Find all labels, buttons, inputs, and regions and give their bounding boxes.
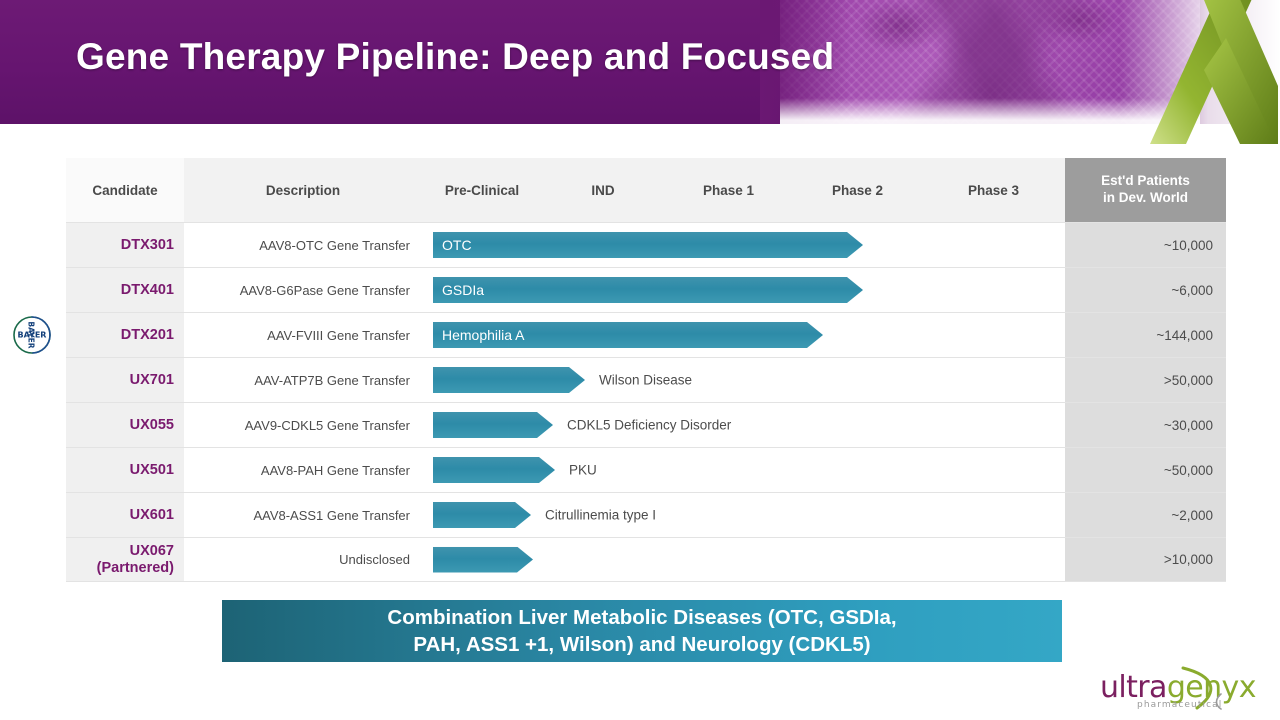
- ultragenyx-logo: ultragenyx pharmaceutical: [1075, 672, 1245, 718]
- cell-phase-track: GSDIa: [422, 268, 1065, 312]
- combination-banner: Combination Liver Metabolic Diseases (OT…: [222, 600, 1062, 662]
- cell-est-patients: ~50,000: [1065, 448, 1226, 492]
- cell-candidate: UX067(Partnered): [66, 538, 184, 581]
- cell-candidate: UX501: [66, 448, 184, 492]
- indication-label: Citrullinemia type I: [545, 508, 656, 523]
- candidate-code: UX701: [130, 372, 174, 388]
- phase-progress-bar: GSDIa: [433, 277, 863, 303]
- est-patients-line1: Est'd Patients: [1101, 173, 1190, 190]
- candidate-note: (Partnered): [97, 560, 174, 576]
- cell-est-patients: ~30,000: [1065, 403, 1226, 447]
- phase-progress-bar: OTC: [433, 232, 863, 258]
- cell-description: Undisclosed: [184, 538, 422, 581]
- cell-description: AAV9-CDKL5 Gene Transfer: [184, 403, 422, 447]
- table-row: DTX201BAYERBAYERAAV-FVIII Gene TransferH…: [66, 312, 1226, 357]
- green-x-logo-icon: [1128, 0, 1278, 144]
- svg-text:BAYER: BAYER: [27, 321, 36, 348]
- page-title: Gene Therapy Pipeline: Deep and Focused: [76, 36, 834, 78]
- cell-description: AAV8-ASS1 Gene Transfer: [184, 493, 422, 537]
- cell-est-patients: >10,000: [1065, 538, 1226, 581]
- phase-progress-bar: [433, 502, 531, 528]
- table-row: UX601AAV8-ASS1 Gene TransferCitrullinemi…: [66, 492, 1226, 537]
- table-row: UX701AAV-ATP7B Gene TransferWilson Disea…: [66, 357, 1226, 402]
- phase-progress-bar: [433, 367, 585, 393]
- cell-description: AAV8-PAH Gene Transfer: [184, 448, 422, 492]
- cell-candidate: DTX401: [66, 268, 184, 312]
- column-header-est-patients: Est'd Patients in Dev. World: [1065, 158, 1226, 222]
- est-patients-line2: in Dev. World: [1103, 190, 1188, 207]
- candidate-code: DTX401: [121, 282, 174, 298]
- table-row: DTX401AAV8-G6Pase Gene TransferGSDIa~6,0…: [66, 267, 1226, 312]
- cell-phase-track: Citrullinemia type I: [422, 493, 1065, 537]
- cell-est-patients: ~6,000: [1065, 268, 1226, 312]
- column-header-phase1: Phase 1: [664, 158, 793, 222]
- column-header-ind: IND: [542, 158, 664, 222]
- cell-est-patients: ~144,000: [1065, 313, 1226, 357]
- indication-label: Hemophilia A: [433, 327, 525, 343]
- column-header-preclinical: Pre-Clinical: [422, 158, 542, 222]
- indication-label: PKU: [569, 463, 597, 478]
- candidate-code: DTX301: [121, 237, 174, 253]
- cell-description: AAV8-OTC Gene Transfer: [184, 223, 422, 267]
- indication-label: GSDIa: [433, 282, 484, 298]
- column-header-phase3: Phase 3: [922, 158, 1065, 222]
- cell-description: AAV-ATP7B Gene Transfer: [184, 358, 422, 402]
- cell-phase-track: CDKL5 Deficiency Disorder: [422, 403, 1065, 447]
- cell-phase-track: Hemophilia A: [422, 313, 1065, 357]
- phase-progress-bar: Hemophilia A: [433, 322, 823, 348]
- table-row: UX501AAV8-PAH Gene TransferPKU~50,000: [66, 447, 1226, 492]
- combination-banner-line1: Combination Liver Metabolic Diseases (OT…: [387, 604, 896, 631]
- candidate-code: UX067: [130, 543, 174, 559]
- phase-progress-bar: [433, 457, 555, 483]
- cell-candidate: DTX301: [66, 223, 184, 267]
- column-header-phase2: Phase 2: [793, 158, 922, 222]
- candidate-code: UX055: [130, 417, 174, 433]
- cell-phase-track: OTC: [422, 223, 1065, 267]
- indication-label: OTC: [433, 237, 472, 253]
- pipeline-table: Candidate Description Pre-Clinical IND P…: [66, 158, 1226, 582]
- column-header-description: Description: [184, 158, 422, 222]
- bayer-logo-icon: BAYERBAYER: [12, 315, 52, 355]
- combination-banner-line2: PAH, ASS1 +1, Wilson) and Neurology (CDK…: [413, 631, 870, 658]
- column-header-candidate: Candidate: [66, 158, 184, 222]
- cell-description: AAV-FVIII Gene Transfer: [184, 313, 422, 357]
- candidate-code: UX501: [130, 462, 174, 478]
- table-header-row: Candidate Description Pre-Clinical IND P…: [66, 158, 1226, 222]
- table-row: DTX301AAV8-OTC Gene TransferOTC~10,000: [66, 222, 1226, 267]
- table-row: UX055AAV9-CDKL5 Gene TransferCDKL5 Defic…: [66, 402, 1226, 447]
- cell-est-patients: ~2,000: [1065, 493, 1226, 537]
- cell-description: AAV8-G6Pase Gene Transfer: [184, 268, 422, 312]
- cell-est-patients: >50,000: [1065, 358, 1226, 402]
- phase-progress-bar: [433, 547, 533, 573]
- indication-label: Wilson Disease: [599, 373, 692, 388]
- cell-phase-track: [422, 538, 1065, 581]
- cell-candidate: UX055: [66, 403, 184, 447]
- cell-est-patients: ~10,000: [1065, 223, 1226, 267]
- phase-progress-bar: [433, 412, 553, 438]
- cell-candidate: UX601: [66, 493, 184, 537]
- candidate-code: DTX201: [121, 327, 174, 343]
- candidate-code: UX601: [130, 507, 174, 523]
- cell-phase-track: Wilson Disease: [422, 358, 1065, 402]
- cell-phase-track: PKU: [422, 448, 1065, 492]
- logo-tagline: pharmaceutical: [1137, 700, 1222, 710]
- header-banner: Gene Therapy Pipeline: Deep and Focused: [0, 0, 1280, 124]
- cell-candidate: UX701: [66, 358, 184, 402]
- indication-label: CDKL5 Deficiency Disorder: [567, 418, 731, 433]
- cell-candidate: DTX201BAYERBAYER: [66, 313, 184, 357]
- table-body: DTX301AAV8-OTC Gene TransferOTC~10,000DT…: [66, 222, 1226, 582]
- table-row: UX067(Partnered)Undisclosed>10,000: [66, 537, 1226, 582]
